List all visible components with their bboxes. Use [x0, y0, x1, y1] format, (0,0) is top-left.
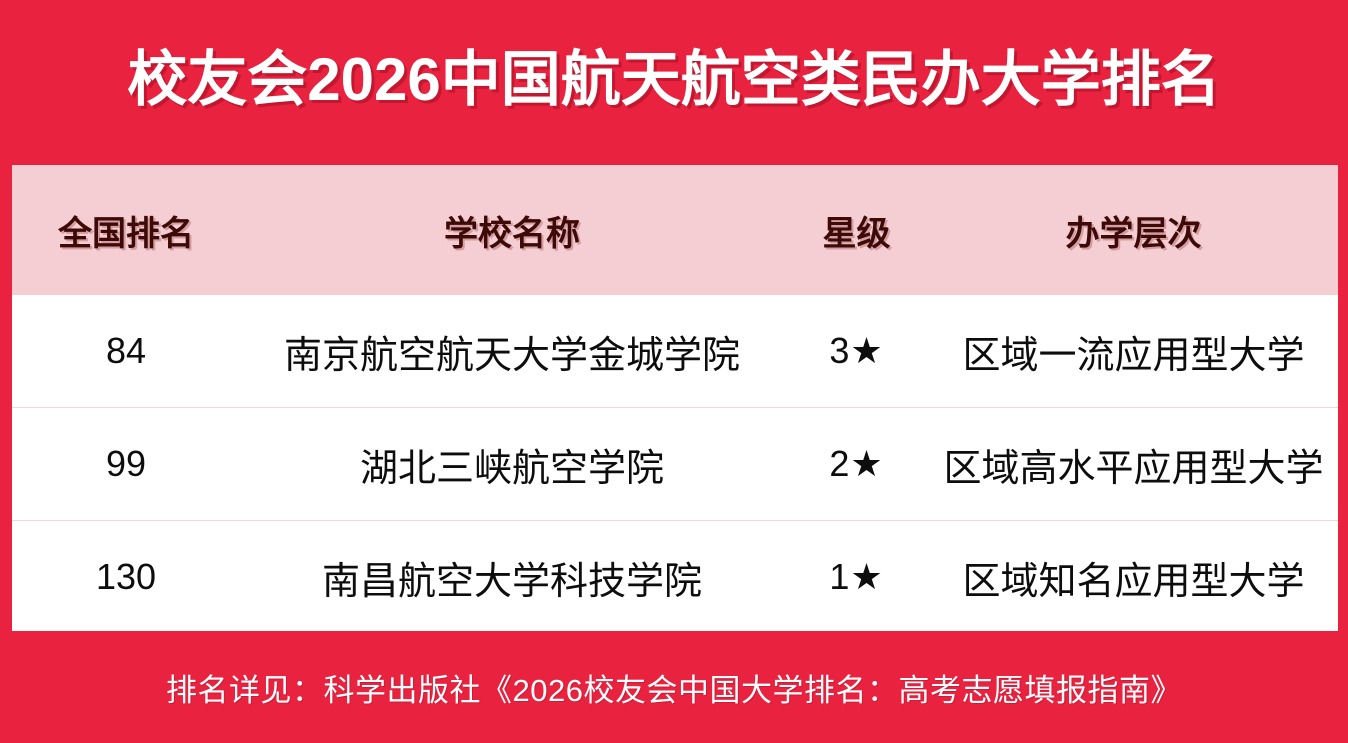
table-row: 84 南京航空航天大学金城学院 3★ 区域一流应用型大学 — [12, 295, 1338, 408]
table-header: 全国排名 学校名称 星级 办学层次 — [12, 165, 1338, 295]
ranking-table: 全国排名 学校名称 星级 办学层次 84 南京航空航天大学金城学院 3★ 区域一… — [12, 165, 1338, 633]
poster-title-bar: 校友会2026中国航天航空类民办大学排名 — [0, 0, 1348, 160]
cell-school-level: 区域高水平应用型大学 — [929, 408, 1338, 521]
column-header-rank: 全国排名 — [12, 165, 240, 295]
ranking-poster: 校友会2026中国航天航空类民办大学排名 全国排名 学校名称 星级 办学层次 8 — [0, 0, 1348, 743]
cell-school-name: 南京航空航天大学金城学院 — [240, 295, 784, 408]
cell-star-rating: 1★ — [784, 521, 929, 634]
cell-school-name: 湖北三峡航空学院 — [240, 408, 784, 521]
cell-rank: 99 — [12, 408, 240, 521]
table-row: 99 湖北三峡航空学院 2★ 区域高水平应用型大学 — [12, 408, 1338, 521]
footer-source-note: 排名详见：科学出版社《2026校友会中国大学排名：高考志愿填报指南》 — [166, 665, 1182, 710]
cell-school-name: 南昌航空大学科技学院 — [240, 521, 784, 634]
cell-rank: 130 — [12, 521, 240, 634]
column-header-name: 学校名称 — [240, 165, 784, 295]
page-title: 校友会2026中国航天航空类民办大学排名 — [127, 50, 1220, 110]
table-header-row: 全国排名 学校名称 星级 办学层次 — [12, 165, 1338, 295]
column-header-level: 办学层次 — [929, 165, 1338, 295]
table-row: 130 南昌航空大学科技学院 1★ 区域知名应用型大学 — [12, 521, 1338, 634]
footer-note-bar: 排名详见：科学出版社《2026校友会中国大学排名：高考志愿填报指南》 — [0, 631, 1348, 743]
cell-star-rating: 2★ — [784, 408, 929, 521]
ranking-table-card: 全国排名 学校名称 星级 办学层次 84 南京航空航天大学金城学院 3★ 区域一… — [12, 165, 1338, 631]
table-body: 84 南京航空航天大学金城学院 3★ 区域一流应用型大学 99 湖北三峡航空学院… — [12, 295, 1338, 633]
cell-star-rating: 3★ — [784, 295, 929, 408]
cell-school-level: 区域知名应用型大学 — [929, 521, 1338, 634]
cell-rank: 84 — [12, 295, 240, 408]
cell-school-level: 区域一流应用型大学 — [929, 295, 1338, 408]
column-header-star: 星级 — [784, 165, 929, 295]
